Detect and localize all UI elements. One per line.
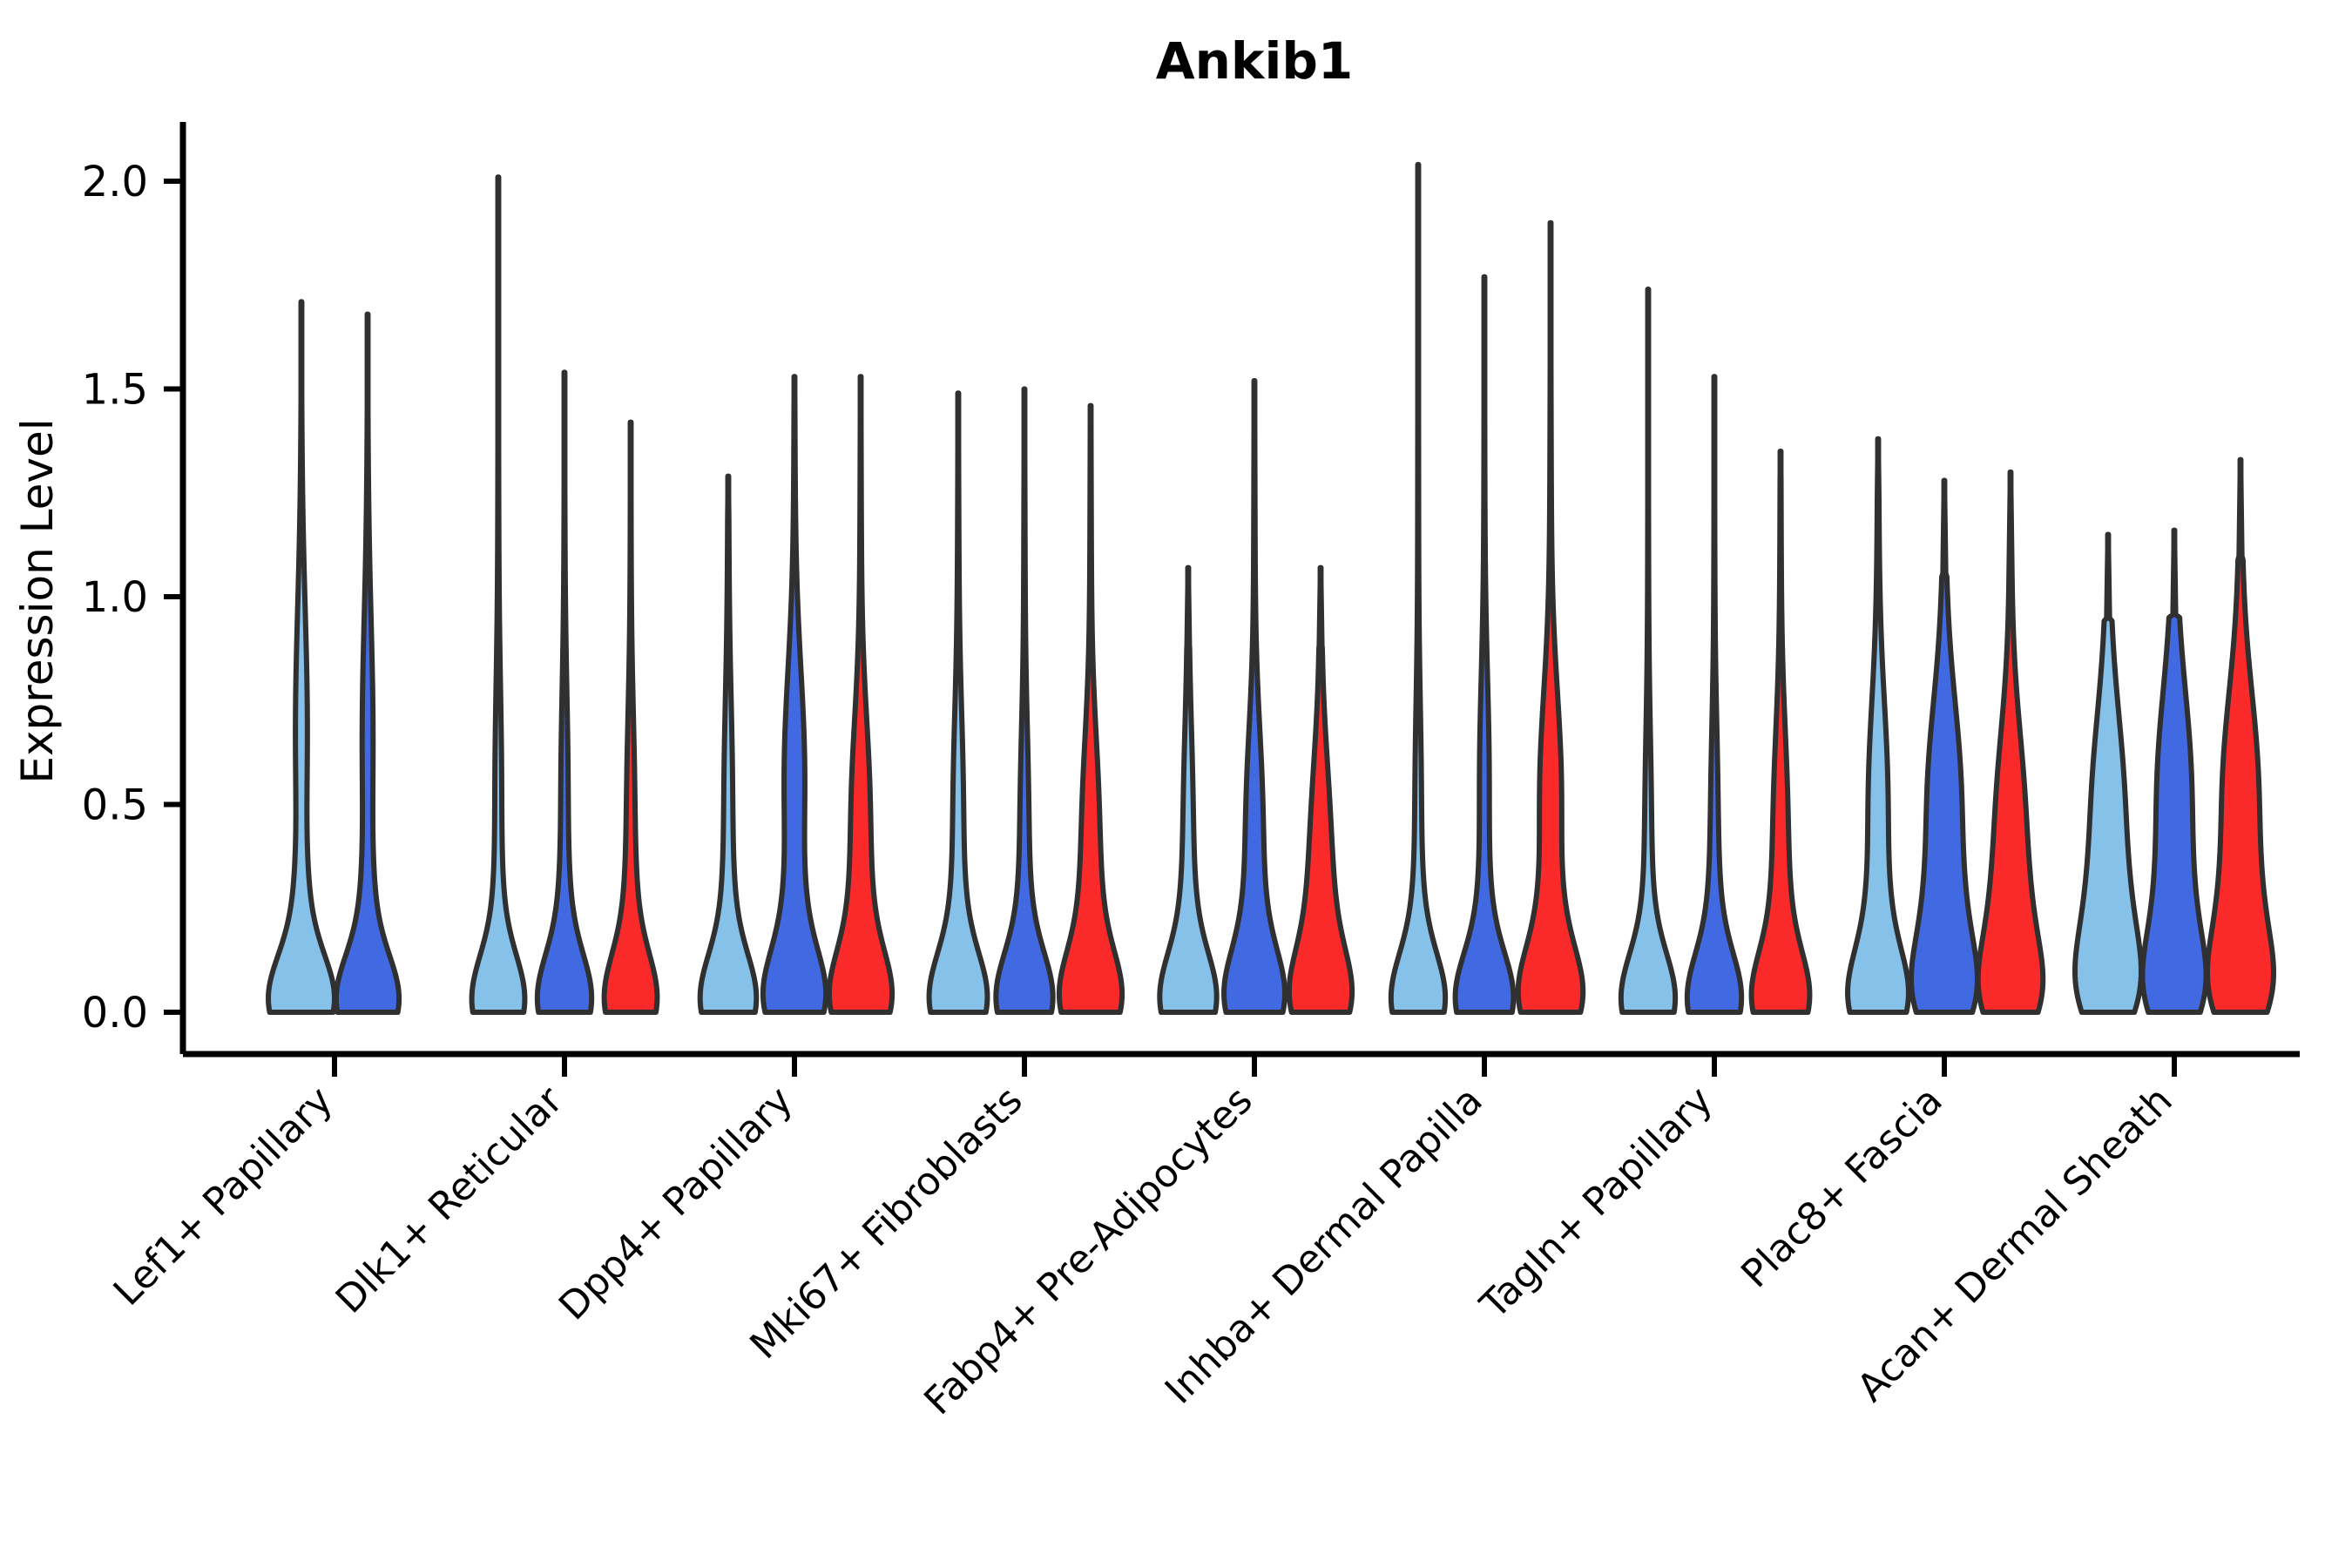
y-tick-label: 0.0 (82, 989, 148, 1037)
violin-group (929, 389, 1123, 1013)
chart-title: Ankib1 (1156, 31, 1354, 91)
y-tick-label: 2.0 (82, 158, 148, 206)
y-tick-label: 1.5 (82, 366, 148, 415)
violin-plot-figure: Ankib1 Expression Level 0.00.51.01.52.0 … (0, 0, 2352, 1568)
violin-group (1848, 439, 2043, 1012)
y-axis-label: Expression Level (12, 418, 63, 783)
figure-canvas: Ankib1 Expression Level 0.00.51.01.52.0 … (0, 0, 2352, 1568)
y-tick-label: 0.5 (82, 781, 148, 830)
y-tick-label: 1.0 (82, 573, 148, 622)
